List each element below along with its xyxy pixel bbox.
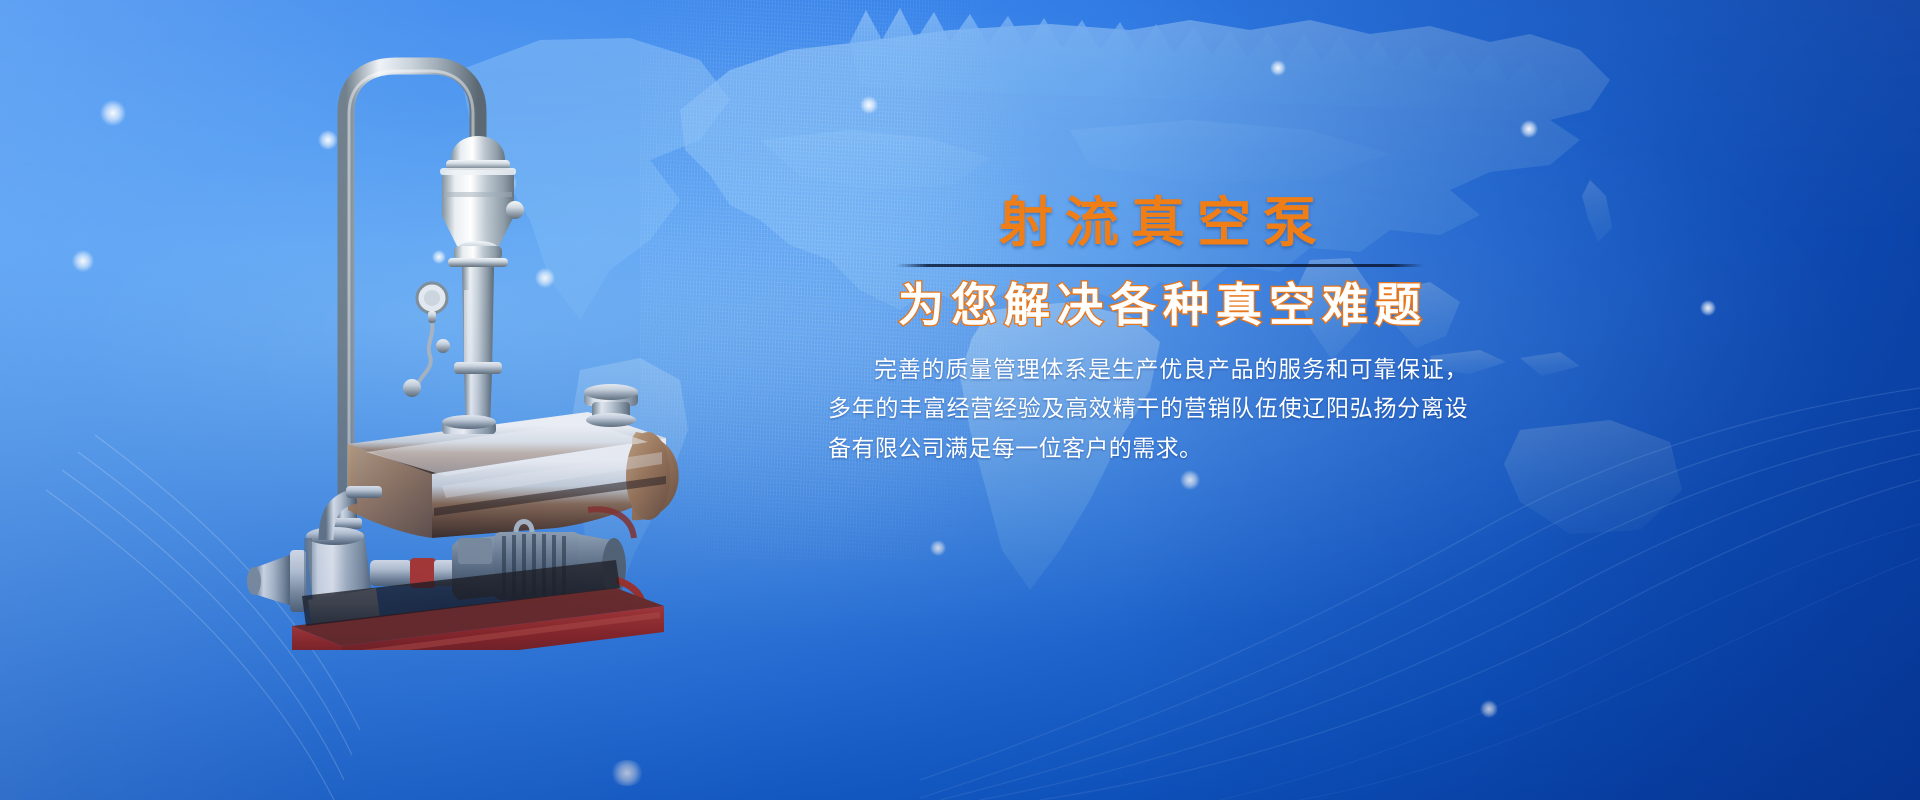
- hero-banner: 射流真空泵 为您解决各种真空难题 完善的质量管理体系是生产优良产品的服务和可靠保…: [0, 0, 1920, 800]
- title-divider: [896, 264, 1424, 267]
- hero-description: 完善的质量管理体系是生产优良产品的服务和可靠保证，多年的丰富经营经验及高效精干的…: [828, 351, 1468, 470]
- hero-subtitle: 为您解决各种真空难题: [770, 281, 1550, 331]
- page-title: 射流真空泵: [770, 196, 1550, 250]
- hero-copy: 射流真空泵 为您解决各种真空难题 完善的质量管理体系是生产优良产品的服务和可靠保…: [770, 196, 1550, 469]
